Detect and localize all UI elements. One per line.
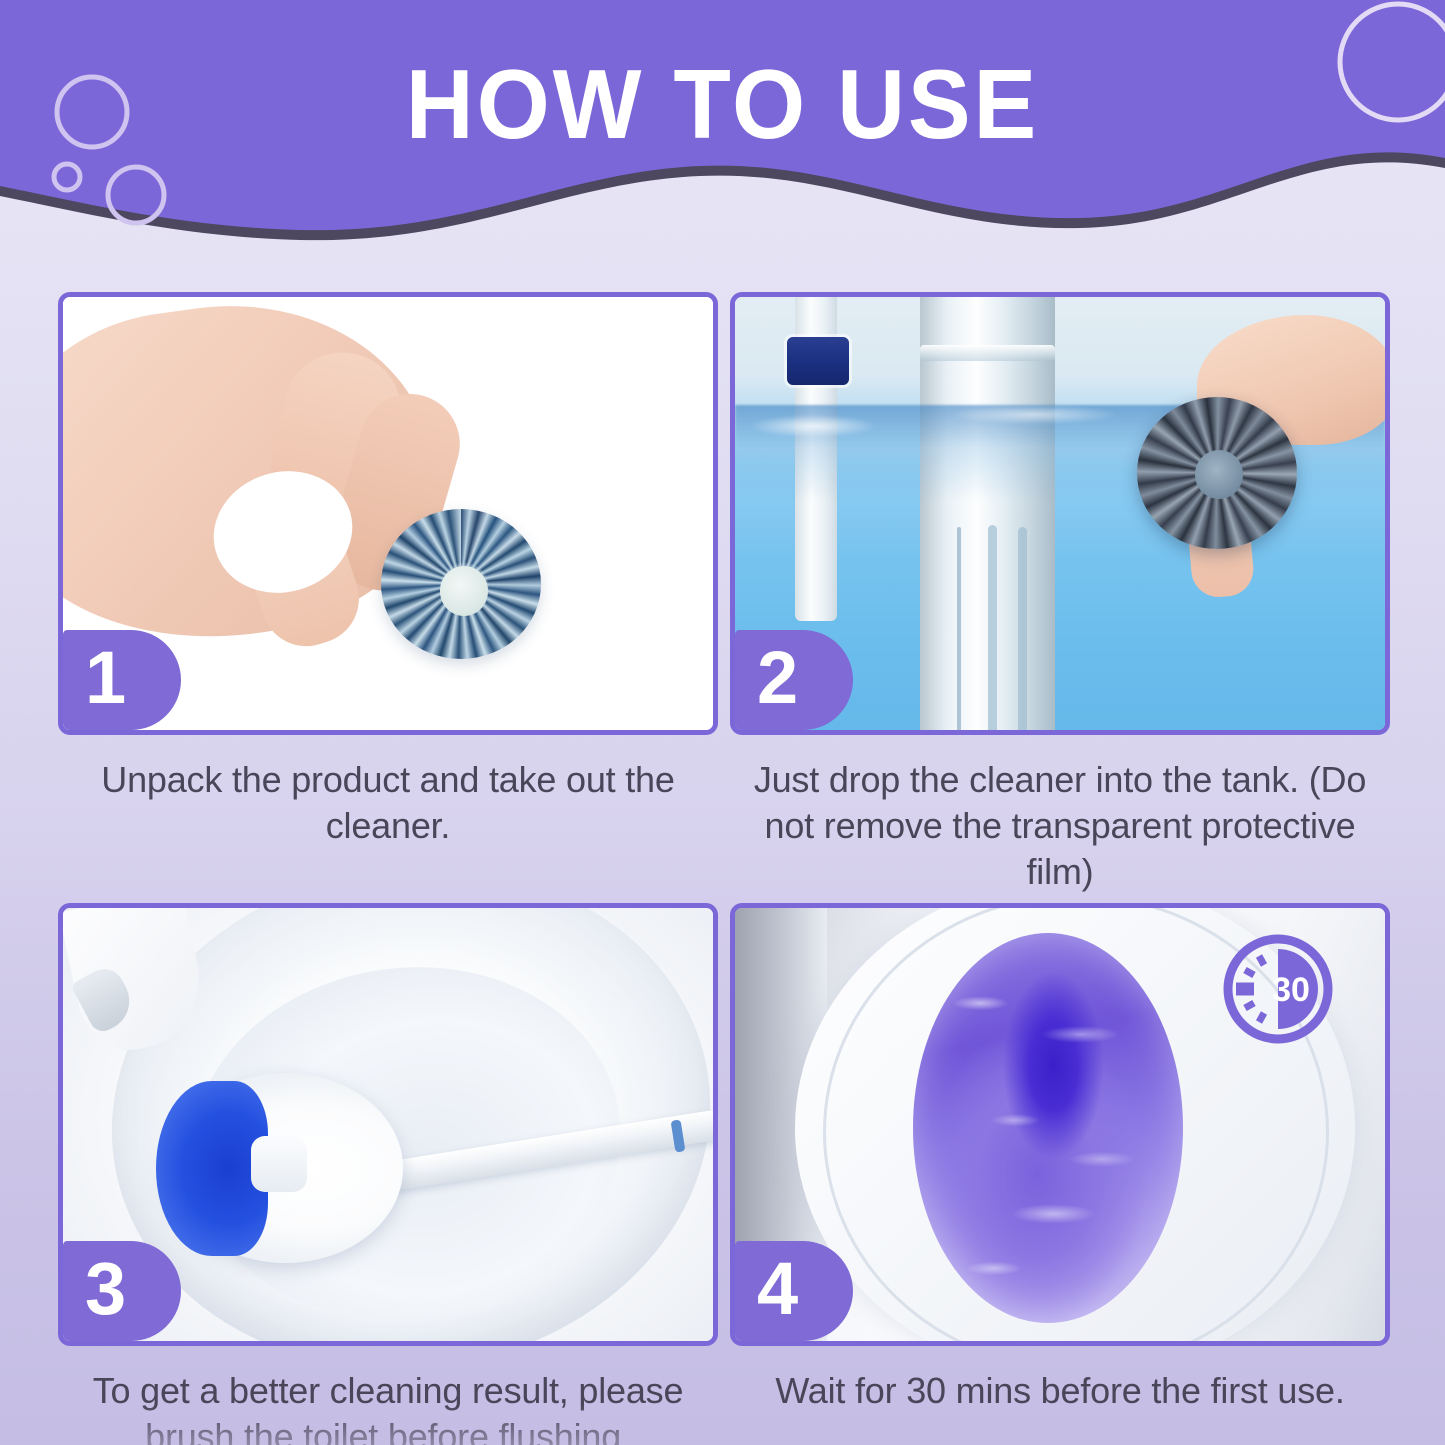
purple-water xyxy=(913,933,1183,1323)
step-number-badge-1: 1 xyxy=(63,630,181,730)
step-card-4: 30 4 Wait for 30 mins before the first u… xyxy=(730,903,1390,1445)
timer-icon: 30 xyxy=(1219,930,1337,1048)
step-number-badge-4: 4 xyxy=(735,1241,853,1341)
step-number-badge-2: 2 xyxy=(735,630,853,730)
step-number-4: 4 xyxy=(735,1252,798,1330)
fill-valve-cap xyxy=(787,337,849,385)
step-card-3: 3 To get a better cleaning result, pleas… xyxy=(58,903,718,1445)
step-number-3: 3 xyxy=(63,1252,126,1330)
step-4-photo-frame: 30 4 xyxy=(730,903,1390,1346)
step-4-caption: Wait for 30 mins before the first use. xyxy=(730,1368,1390,1414)
cleaner-tablet xyxy=(381,509,541,659)
step-2-caption: Just drop the cleaner into the tank. (Do… xyxy=(730,757,1390,895)
step-number-1: 1 xyxy=(63,641,126,719)
step-card-1: 1 Unpack the product and take out the cl… xyxy=(58,292,718,895)
timer-value: 30 xyxy=(1272,971,1310,1009)
step-card-2: 2 Just drop the cleaner into the tank. (… xyxy=(730,292,1390,895)
cleaner-tablet xyxy=(1137,397,1297,549)
steps-grid: 1 Unpack the product and take out the cl… xyxy=(58,292,1390,1445)
step-number-2: 2 xyxy=(735,641,798,719)
step-number-badge-3: 3 xyxy=(63,1241,181,1341)
page-title: HOW TO USE xyxy=(29,55,1416,153)
step-1-caption: Unpack the product and take out the clea… xyxy=(58,757,718,849)
header-banner: HOW TO USE xyxy=(0,0,1445,260)
step-2-photo-frame: 2 xyxy=(730,292,1390,735)
step-3-photo-frame: 3 xyxy=(58,903,718,1346)
step-3-caption: To get a better cleaning result, please … xyxy=(58,1368,718,1445)
step-1-photo-frame: 1 xyxy=(58,292,718,735)
